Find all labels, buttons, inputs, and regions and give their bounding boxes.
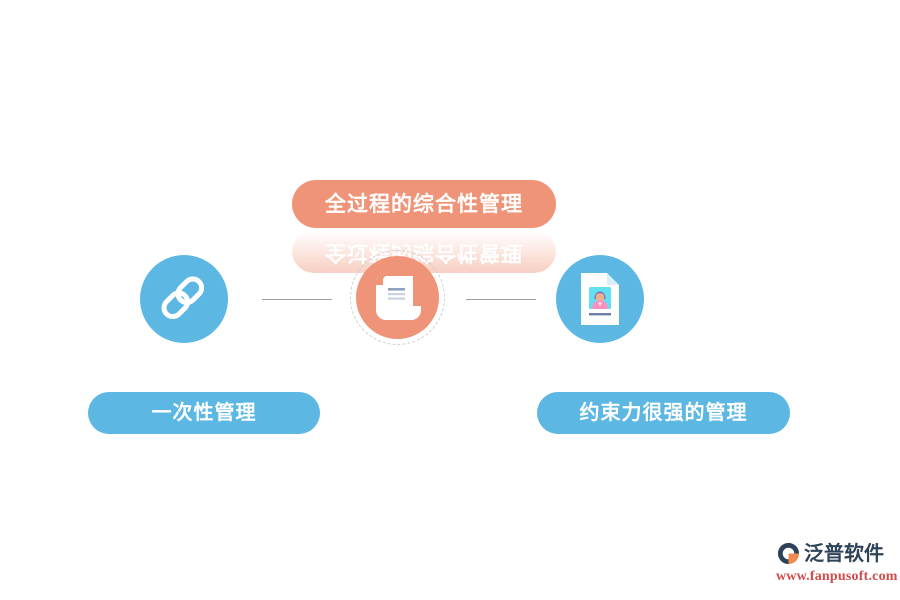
node-right-label: 约束力很强的管理 bbox=[580, 403, 748, 423]
node-right-label-badge[interactable]: 约束力很强的管理 bbox=[537, 392, 790, 434]
node-left-label-badge[interactable]: 一次性管理 bbox=[88, 392, 320, 434]
id-card-document-icon bbox=[578, 271, 622, 327]
watermark-brand-row: 泛普软件 bbox=[776, 538, 894, 568]
top-node-badge[interactable]: 全过程的综合性管理 bbox=[292, 180, 556, 228]
diagram-canvas: 全过程的综合性管理 全过程的综合性管理 bbox=[0, 0, 900, 600]
chain-link-icon bbox=[157, 272, 211, 326]
connector-left-to-center bbox=[262, 299, 332, 300]
top-node: 全过程的综合性管理 全过程的综合性管理 bbox=[292, 180, 556, 228]
scroll-document-icon bbox=[371, 272, 425, 324]
top-node-label: 全过程的综合性管理 bbox=[325, 194, 523, 215]
node-left-icon-circle[interactable] bbox=[140, 255, 228, 343]
fanpu-swoosh-logo-icon bbox=[776, 541, 801, 566]
watermark-brand-text: 泛普软件 bbox=[804, 543, 884, 563]
node-center-icon-circle[interactable] bbox=[356, 256, 439, 339]
connector-center-to-right bbox=[466, 299, 536, 300]
node-left-label: 一次性管理 bbox=[152, 403, 257, 423]
node-center-ring bbox=[350, 250, 445, 345]
watermark-url-text: www.fanpusoft.com bbox=[776, 570, 894, 584]
node-right-icon-circle[interactable] bbox=[556, 255, 644, 343]
watermark: 泛普软件 www.fanpusoft.com bbox=[776, 538, 894, 590]
